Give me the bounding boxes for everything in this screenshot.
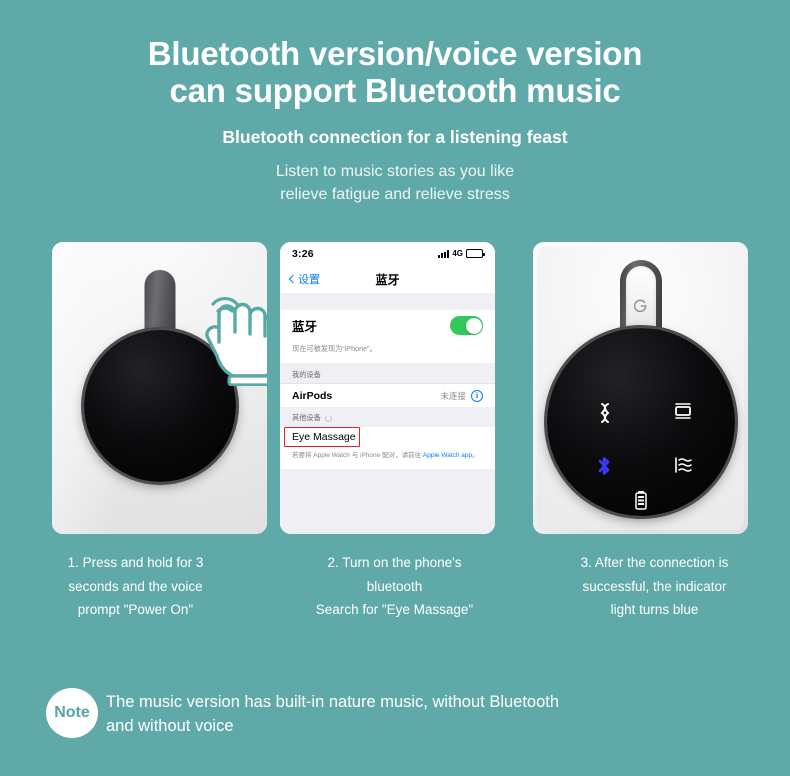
device-row-eye-massage[interactable]: Eye Massage [280, 427, 495, 447]
caption-line: 3. After the connection is [526, 551, 783, 575]
steps-panel-row: 3:26 4G 设置 蓝牙 [0, 242, 790, 534]
page-subtitle: Bluetooth connection for a listening fea… [0, 127, 790, 148]
description-line-1: Listen to music stories as you like [0, 160, 790, 183]
bluetooth-icon [595, 456, 613, 476]
caption-line: bluetooth [263, 575, 526, 599]
other-devices-header: 其他设备 [280, 407, 495, 427]
status-time: 3:26 [292, 248, 314, 260]
phone-status-bar: 3:26 4G [280, 242, 495, 265]
footnote-text-before: 若要将 Apple Watch 与 iPhone 配对，请前往 [292, 452, 423, 459]
caption-line: 2. Turn on the phone's [263, 551, 526, 575]
panel-press-hold [52, 242, 267, 534]
caption-step-2: 2. Turn on the phone's bluetooth Search … [263, 551, 526, 622]
bluetooth-toggle-row[interactable]: 蓝牙 [280, 310, 495, 341]
caption-step-3: 3. After the connection is successful, t… [526, 551, 789, 622]
note-section: Note The music version has built-in natu… [46, 688, 559, 739]
caption-step-1: 1. Press and hold for 3 seconds and the … [0, 551, 263, 622]
network-label: 4G [452, 249, 463, 258]
title-line-1: Bluetooth version/voice version [0, 36, 790, 73]
compress-icon [673, 402, 693, 420]
title-line-2: can support Bluetooth music [0, 73, 790, 110]
header-section: Bluetooth version/voice version can supp… [0, 0, 790, 206]
device-disc [547, 328, 735, 516]
device-status-group: 未连接 i [440, 390, 483, 402]
heat-waves-icon [673, 456, 693, 474]
device-name: AirPods [292, 390, 332, 402]
found-device-name: Eye Massage [292, 431, 356, 443]
page-description: Listen to music stories as you like reli… [0, 160, 790, 206]
my-devices-header: 我的设备 [280, 363, 495, 383]
note-line-1: The music version has built-in nature mu… [106, 691, 559, 715]
page-title: Bluetooth version/voice version can supp… [0, 36, 790, 110]
vibration-icon [597, 402, 613, 424]
caption-line: successful, the indicator [526, 575, 783, 599]
battery-icon [635, 490, 647, 510]
caption-line: prompt "Power On" [8, 598, 263, 622]
caption-line: 1. Press and hold for 3 [8, 551, 263, 575]
note-text: The music version has built-in nature mu… [106, 688, 559, 739]
connection-status: 未连接 [440, 390, 466, 402]
note-badge: Note [46, 688, 98, 738]
caption-line: Search for "Eye Massage" [263, 598, 526, 622]
phone-empty-area [280, 469, 495, 534]
hand-tap-icon [193, 284, 267, 386]
settings-gap-band [280, 293, 495, 310]
device-row-airpods[interactable]: AirPods 未连接 i [280, 383, 495, 407]
caption-line: seconds and the voice [8, 575, 263, 599]
nav-title: 蓝牙 [280, 271, 495, 288]
apple-watch-app-link[interactable]: Apple Watch app [423, 452, 472, 459]
phone-nav-bar: 设置 蓝牙 [280, 265, 495, 293]
caption-line: light turns blue [526, 598, 783, 622]
apple-watch-footnote: 若要将 Apple Watch 与 iPhone 配对，请前往 Apple Wa… [280, 447, 495, 469]
other-devices-label: 其他设备 [292, 413, 321, 423]
info-circle-icon[interactable]: i [471, 390, 483, 402]
discoverable-hint: 现在可被发现为“iPhone”。 [280, 341, 495, 363]
loading-spinner-icon [325, 415, 332, 422]
captions-row: 1. Press and hold for 3 seconds and the … [0, 551, 790, 622]
status-indicators: 4G [438, 249, 483, 258]
signal-bars-icon [438, 250, 449, 258]
bluetooth-label: 蓝牙 [292, 316, 317, 335]
power-button-icon [633, 298, 649, 314]
footnote-text-after: 。 [472, 452, 479, 459]
phone-screen: 3:26 4G 设置 蓝牙 [280, 242, 495, 534]
note-line-2: and without voice [106, 715, 559, 739]
bluetooth-toggle[interactable] [450, 316, 483, 335]
battery-icon [466, 249, 483, 258]
panel-phone-bluetooth: 3:26 4G 设置 蓝牙 [280, 242, 495, 534]
panel-device-connected [533, 242, 748, 534]
description-line-2: relieve fatigue and relieve stress [0, 183, 790, 206]
